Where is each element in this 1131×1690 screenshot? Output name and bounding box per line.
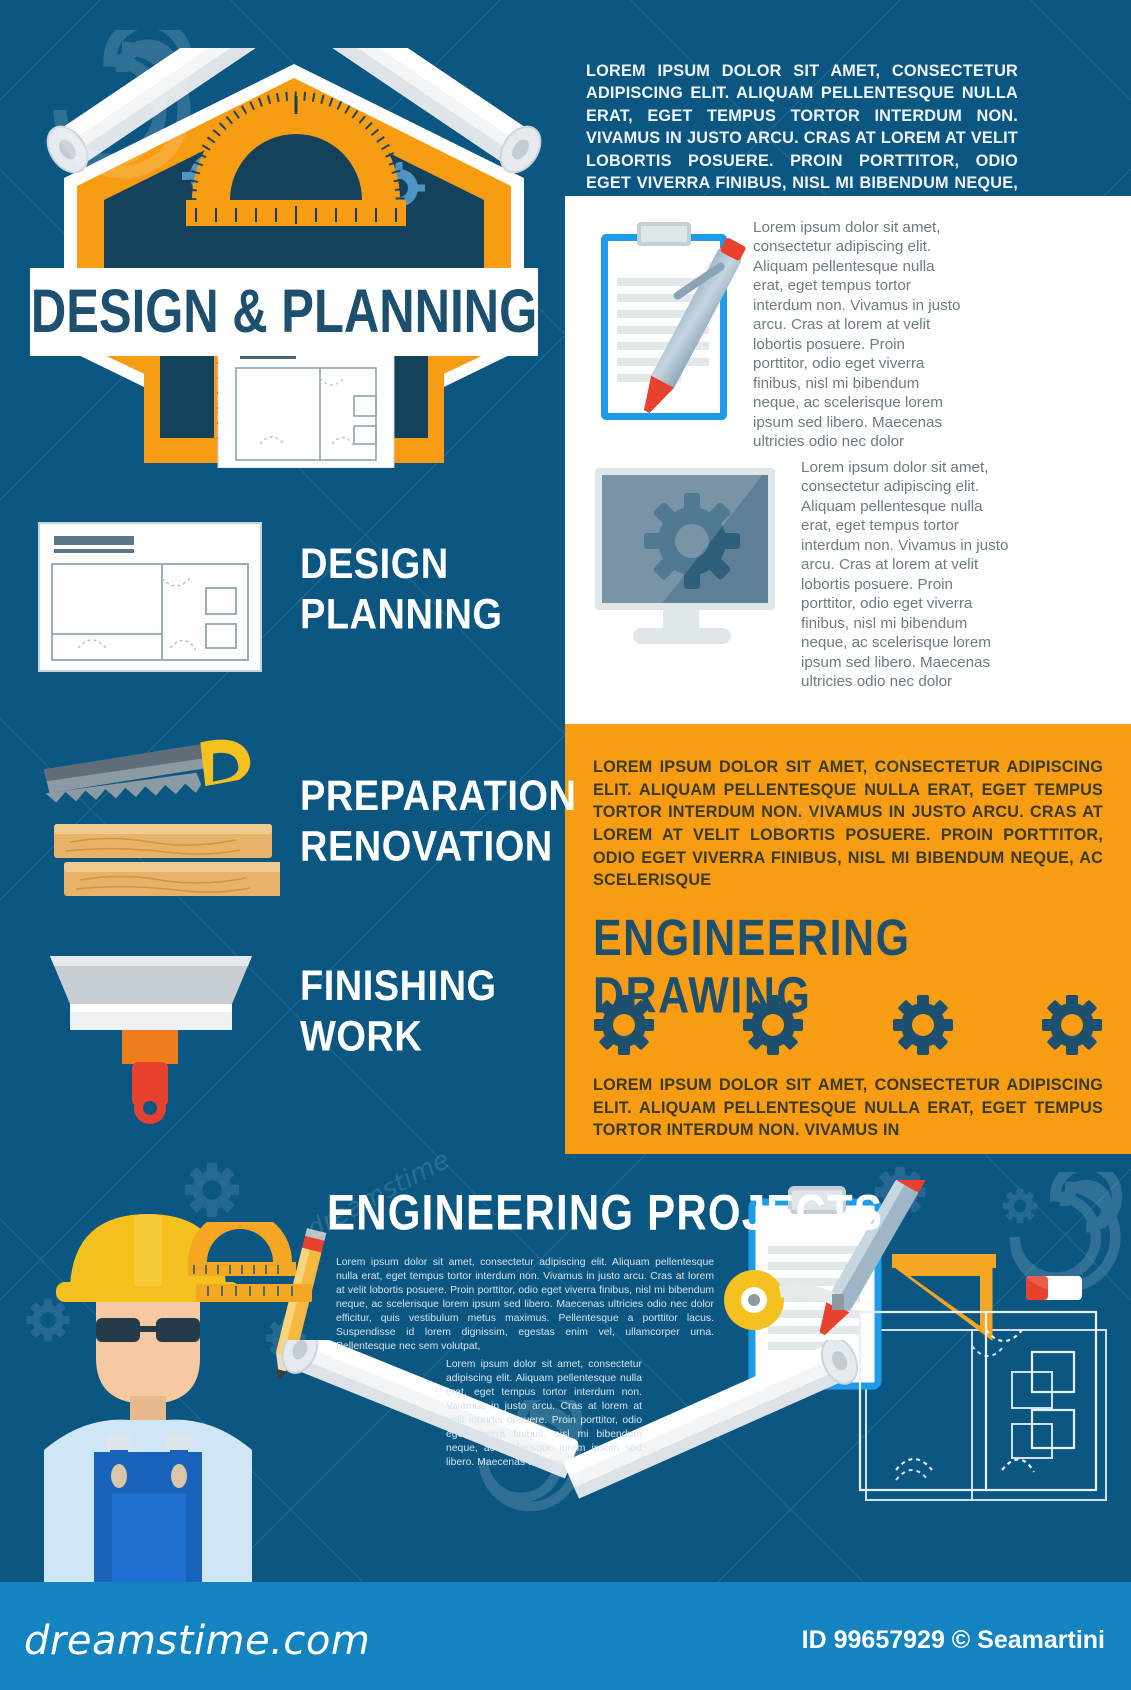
feature-text: Lorem ipsum dolor sit amet, consectetur … — [801, 458, 1009, 691]
gear-icon — [742, 994, 804, 1056]
projects-paragraph-2: Lorem ipsum dolor sit amet, consectetur … — [446, 1358, 642, 1470]
feature-text: Lorem ipsum dolor sit amet, consectetur … — [753, 218, 961, 451]
orange-bottom-paragraph: LOREM IPSUM DOLOR SIT AMET, CONSECTETUR … — [593, 1074, 1103, 1142]
features-panel: Lorem ipsum dolor sit amet, consectetur … — [565, 196, 1131, 724]
service-label-line2: WORK — [300, 1012, 497, 1062]
feature-clipboard: Lorem ipsum dolor sit amet, consectetur … — [595, 218, 961, 451]
hero-badge: DESIGN & PLANNING — [24, 48, 564, 468]
dreamstime-logo: dreamstime.com — [24, 1618, 370, 1664]
putty-knife-icon — [36, 950, 266, 1130]
service-label-line2: PLANNING — [300, 590, 502, 640]
orange-top-paragraph: LOREM IPSUM DOLOR SIT AMET, CONSECTETUR … — [593, 756, 1103, 892]
engineering-drawing-panel: LOREM IPSUM DOLOR SIT AMET, CONSECTETUR … — [565, 724, 1131, 1154]
engineering-projects-title: ENGINEERING PROJECTS — [327, 1184, 883, 1242]
mini-blueprint-icon — [856, 1306, 1106, 1506]
page-title: DESIGN & PLANNING — [31, 277, 537, 346]
service-label-preparation: PREPARATION RENOVATION — [300, 772, 576, 872]
service-item-design — [38, 522, 262, 677]
blueprint-icon — [38, 522, 262, 672]
yellow-ruler-icon — [196, 1240, 316, 1310]
poster-canvas: DESIGN & PLANNING LOREM IPSUM DOLOR SIT … — [0, 0, 1131, 1690]
footer-credit: ID 99657929 © Seamartini — [802, 1626, 1105, 1655]
gear-row — [593, 994, 1103, 1056]
service-label-finishing: FINISHING WORK — [300, 962, 497, 1062]
saw-boards-icon — [30, 728, 280, 904]
intro-paragraph: LOREM IPSUM DOLOR SIT AMET, CONSECTETUR … — [586, 60, 1018, 217]
gear-icon — [593, 994, 655, 1056]
clipboard-pen-icon — [595, 218, 735, 423]
service-item-finishing — [36, 950, 266, 1135]
service-label-design: DESIGN PLANNING — [300, 540, 502, 640]
service-label-line2: RENOVATION — [300, 822, 576, 872]
service-label-line1: FINISHING — [300, 962, 497, 1012]
gear-icon — [892, 994, 954, 1056]
badge-title-ribbon: DESIGN & PLANNING — [30, 268, 538, 356]
service-item-preparation — [30, 728, 280, 909]
feature-monitor: Lorem ipsum dolor sit amet, consectetur … — [587, 458, 1009, 691]
service-label-line1: PREPARATION — [300, 772, 576, 822]
monitor-gear-icon — [587, 458, 783, 654]
footer-bar: dreamstime.com ID 99657929 © Seamartini — [0, 1582, 1131, 1690]
projects-paragraph-1: Lorem ipsum dolor sit amet, consectetur … — [336, 1256, 714, 1354]
service-label-line1: DESIGN — [300, 540, 502, 590]
gear-icon — [1041, 994, 1103, 1056]
